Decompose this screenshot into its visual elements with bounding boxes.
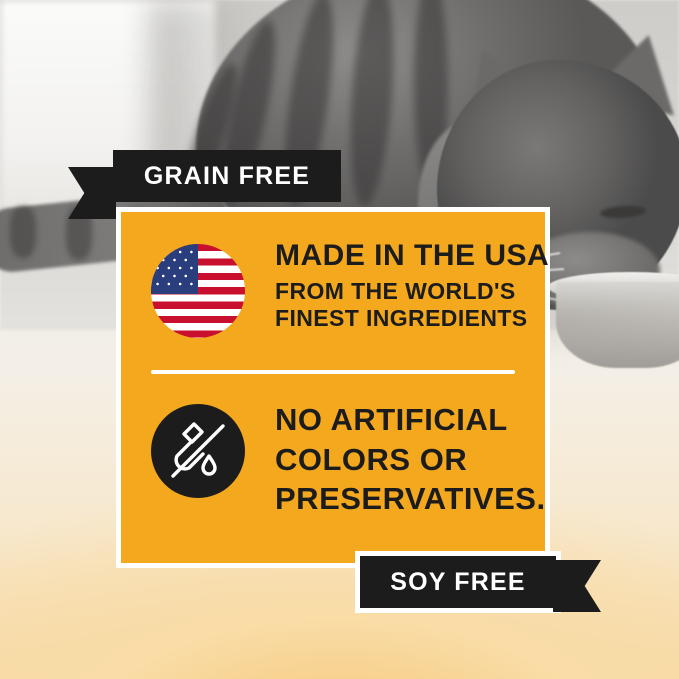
claim-no-artificial-line-3: PRESERVATIVES. (275, 479, 546, 519)
no-dropper-icon (151, 404, 245, 498)
claim-no-artificial-line-1: NO ARTIFICIAL (275, 400, 546, 440)
badge-grain-free: GRAIN FREE (113, 150, 341, 202)
claim-no-artificial: NO ARTIFICIAL COLORS OR PRESERVATIVES. (151, 400, 546, 519)
panel-divider (151, 370, 515, 374)
claim-made-in-usa-subline-2: FINEST INGREDIENTS (275, 306, 549, 331)
usa-flag-icon (151, 244, 245, 338)
badge-soy-free-label: SOY FREE (390, 568, 526, 597)
badge-grain-free-label: GRAIN FREE (144, 162, 310, 191)
claim-made-in-usa-headline: MADE IN THE USA (275, 240, 549, 272)
claim-no-artificial-text: NO ARTIFICIAL COLORS OR PRESERVATIVES. (275, 400, 546, 519)
claim-no-artificial-line-2: COLORS OR (275, 440, 546, 480)
product-feature-image: GRAIN FREE MADE IN THE USA FROM THE WORL… (0, 0, 679, 679)
claim-made-in-usa-subline-1: FROM THE WORLD'S (275, 279, 549, 304)
flag-stars (151, 244, 198, 294)
claims-panel: MADE IN THE USA FROM THE WORLD'S FINEST … (121, 212, 545, 563)
cat-tail-stripe (10, 206, 36, 258)
badge-soy-free: SOY FREE (360, 556, 556, 608)
claim-made-in-usa: MADE IN THE USA FROM THE WORLD'S FINEST … (151, 240, 549, 338)
claim-made-in-usa-text: MADE IN THE USA FROM THE WORLD'S FINEST … (275, 240, 549, 331)
